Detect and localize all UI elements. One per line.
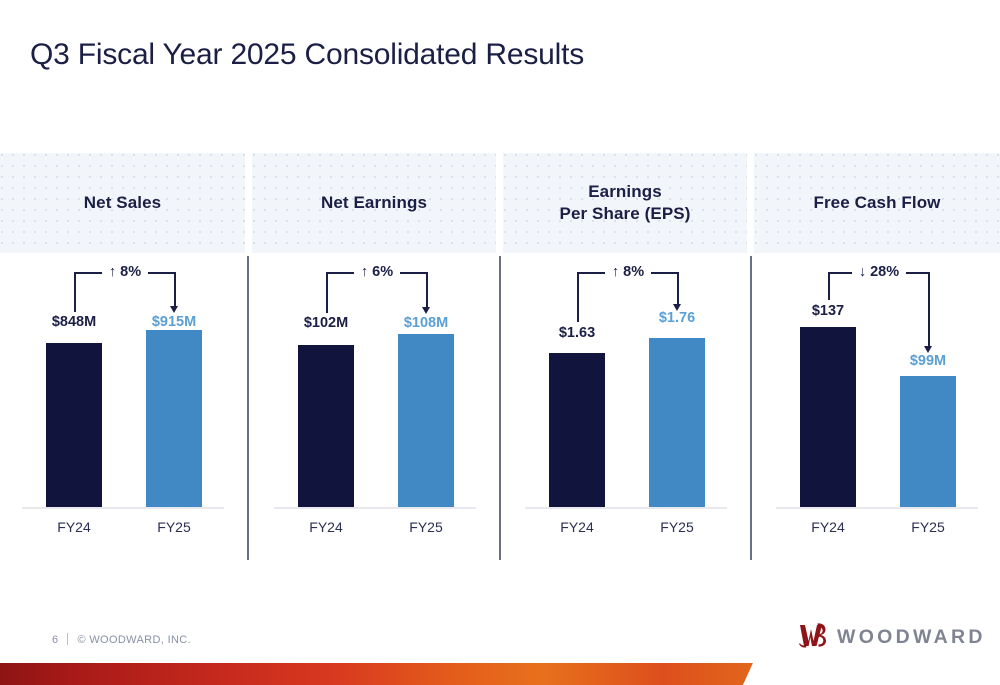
panel-divider bbox=[499, 256, 501, 560]
logo-wordmark: WOODWARD bbox=[837, 626, 986, 649]
panel-header-net-earnings: Net Earnings bbox=[252, 153, 496, 253]
chart-eps: $1.63 $1.76 ↑ 8% FY24 FY25 bbox=[503, 253, 749, 553]
delta-label: ↑ 8% bbox=[578, 264, 678, 280]
bar-fy24 bbox=[46, 343, 102, 508]
bar-fy24 bbox=[298, 345, 354, 508]
panel-header-free-cash-flow: Free Cash Flow bbox=[754, 153, 1000, 253]
panel-divider bbox=[247, 256, 249, 560]
bar-value-fy25: $1.76 bbox=[629, 310, 725, 326]
axis-baseline bbox=[525, 507, 727, 509]
delta-arrowhead-icon bbox=[673, 304, 681, 311]
panel-header-label: Net Sales bbox=[84, 192, 161, 214]
chart-net-sales: $848M $915M ↑ 8% FY24 FY25 bbox=[0, 253, 246, 553]
bar-fy24 bbox=[549, 353, 605, 508]
axis-baseline bbox=[274, 507, 476, 509]
brand-accent-bar bbox=[0, 663, 753, 685]
bar-fy25 bbox=[649, 338, 705, 508]
plot-area: $1.63 $1.76 ↑ 8% bbox=[503, 253, 749, 508]
page-number: 6 bbox=[52, 634, 58, 646]
copyright-text: © WOODWARD, INC. bbox=[77, 634, 191, 646]
panel-header-eps: Earnings Per Share (EPS) bbox=[503, 153, 747, 253]
panel-divider bbox=[750, 256, 752, 560]
plot-area: $848M $915M ↑ 8% bbox=[0, 253, 246, 508]
bar-fy25 bbox=[146, 330, 202, 508]
axis-baseline bbox=[22, 507, 224, 509]
bar-value-fy25: $108M bbox=[378, 315, 474, 331]
bar-value-fy24: $848M bbox=[26, 314, 122, 330]
bar-value-fy24: $137 bbox=[780, 303, 876, 319]
delta-label: ↑ 8% bbox=[75, 264, 175, 280]
panel-header-label: Net Earnings bbox=[321, 192, 427, 214]
delta-label: ↑ 6% bbox=[327, 264, 427, 280]
axis-label-fy25: FY25 bbox=[378, 519, 474, 535]
bar-value-fy25: $915M bbox=[126, 314, 222, 330]
delta-label: ↓ 28% bbox=[829, 264, 929, 280]
panel-header-net-sales: Net Sales bbox=[0, 153, 245, 253]
bar-fy25 bbox=[900, 376, 956, 508]
footer-separator bbox=[67, 633, 68, 645]
bar-value-fy25: $99M bbox=[880, 353, 976, 369]
bar-fy24 bbox=[800, 327, 856, 508]
axis-label-fy24: FY24 bbox=[278, 519, 374, 535]
plot-area: $102M $108M ↑ 6% bbox=[252, 253, 498, 508]
footer: 6© WOODWARD, INC. bbox=[52, 633, 191, 646]
panel-header-label: Earnings Per Share (EPS) bbox=[560, 181, 691, 225]
metric-headers-band: Net Sales Net Earnings Earnings Per Shar… bbox=[0, 153, 1000, 253]
plot-area: $137 $99M ↓ 28% bbox=[754, 253, 1000, 508]
woodward-logo: WOODWARD bbox=[798, 622, 986, 653]
panel-header-label-line1: Earnings bbox=[560, 181, 691, 203]
woodward-w-icon bbox=[798, 622, 828, 653]
delta-arrowhead-icon bbox=[170, 306, 178, 313]
chart-free-cash-flow: $137 $99M ↓ 28% FY24 FY25 bbox=[754, 253, 1000, 553]
panel-header-label-line2: Per Share (EPS) bbox=[560, 203, 691, 225]
delta-stem-right bbox=[928, 272, 930, 347]
axis-label-fy24: FY24 bbox=[780, 519, 876, 535]
page-title: Q3 Fiscal Year 2025 Consolidated Results bbox=[30, 38, 584, 72]
axis-label-fy25: FY25 bbox=[629, 519, 725, 535]
delta-arrowhead-icon bbox=[422, 307, 430, 314]
bar-value-fy24: $1.63 bbox=[529, 325, 625, 341]
axis-baseline bbox=[776, 507, 978, 509]
chart-net-earnings: $102M $108M ↑ 6% FY24 FY25 bbox=[252, 253, 498, 553]
bar-value-fy24: $102M bbox=[278, 315, 374, 331]
axis-label-fy24: FY24 bbox=[26, 519, 122, 535]
delta-arrowhead-icon bbox=[924, 346, 932, 353]
axis-label-fy24: FY24 bbox=[529, 519, 625, 535]
bar-fy25 bbox=[398, 334, 454, 508]
axis-label-fy25: FY25 bbox=[126, 519, 222, 535]
panel-header-label: Free Cash Flow bbox=[813, 192, 940, 214]
axis-label-fy25: FY25 bbox=[880, 519, 976, 535]
